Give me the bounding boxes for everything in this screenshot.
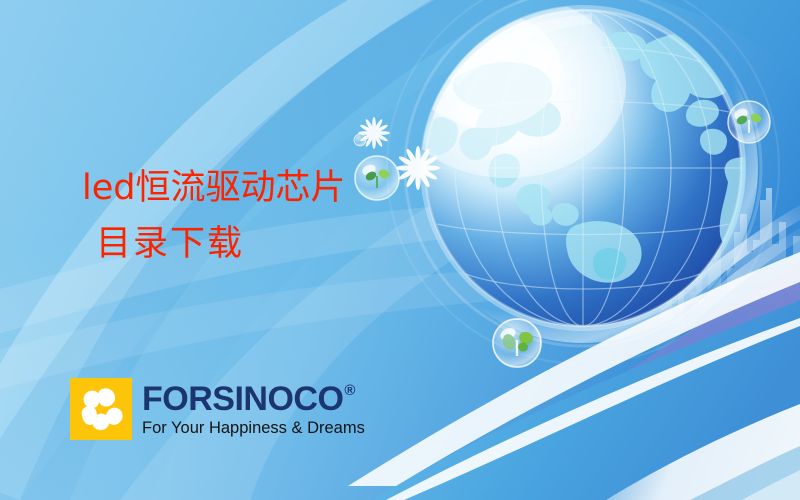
brand-tagline: For Your Happiness & Dreams [142,418,365,438]
clover-icon [70,378,132,440]
bubble-sprout-top-right [728,101,770,143]
bubble-tiny [354,134,366,146]
registered-trademark-icon: ® [344,383,355,398]
brand-logo: FORSINOCO ® For Your Happiness & Dreams [70,378,365,440]
slide-canvas: led恒流驱动芯片 目录下载 FORSINOCO ® For Your Happ… [0,0,800,500]
brand-wordmark: FORSINOCO ® [142,382,365,416]
brand-text: FORSINOCO ® For Your Happiness & Dreams [142,378,365,438]
bubble-sprout-left [355,156,399,200]
bubble-sprout-bottom [493,319,541,367]
brand-name: FORSINOCO [142,382,343,416]
forsinoco-logo-mark [70,378,132,440]
